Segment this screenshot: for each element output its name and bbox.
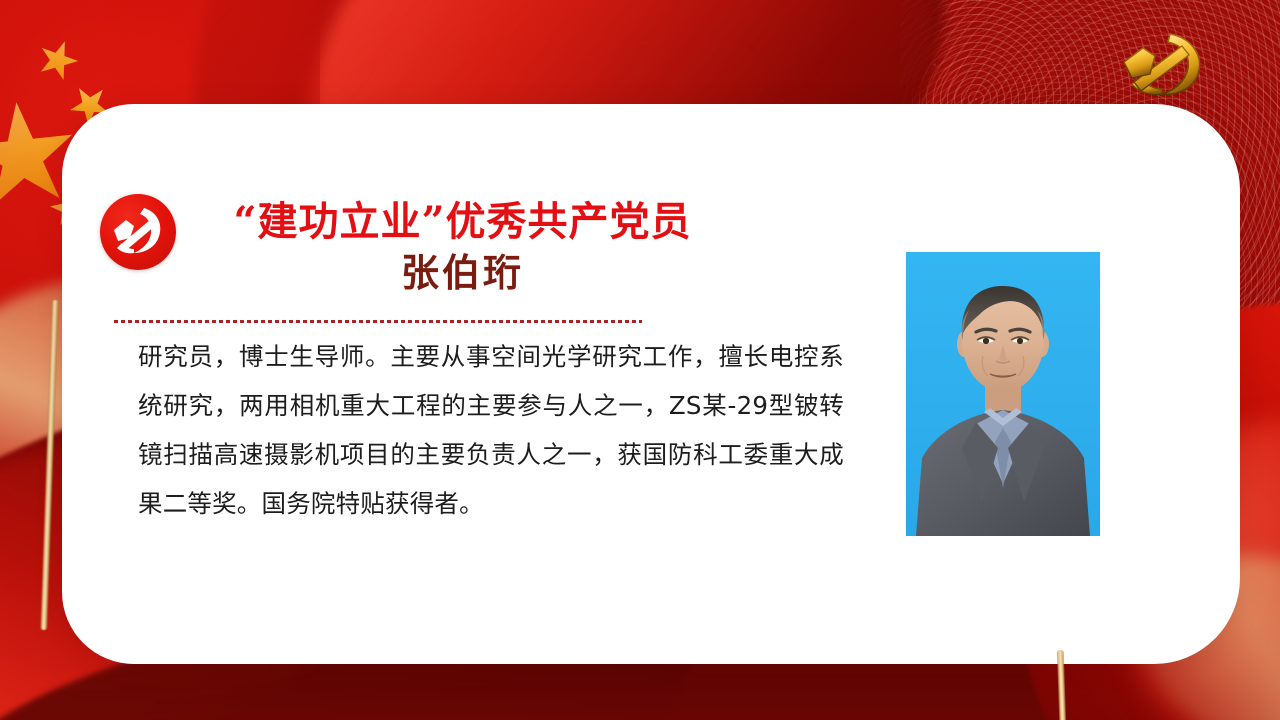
party-badge-hammer-sickle xyxy=(100,194,176,270)
person-name: 张伯珩 xyxy=(190,248,735,298)
party-emblem-hammer-sickle xyxy=(1110,26,1214,102)
biography-text: 研究员，博士生导师。主要从事空间光学研究工作，擅长电控系统研究，两用相机重大工程… xyxy=(138,332,844,528)
header-titles: “建功立业”优秀共产党员 张伯珩 xyxy=(190,196,735,298)
page-title: “建功立业”优秀共产党员 xyxy=(190,196,735,248)
slide-root: “建功立业”优秀共产党员 张伯珩 研究员，博士生导师。主要从事空间光学研究工作，… xyxy=(0,0,1280,720)
dotted-divider xyxy=(114,320,642,323)
portrait-photo xyxy=(906,252,1100,536)
